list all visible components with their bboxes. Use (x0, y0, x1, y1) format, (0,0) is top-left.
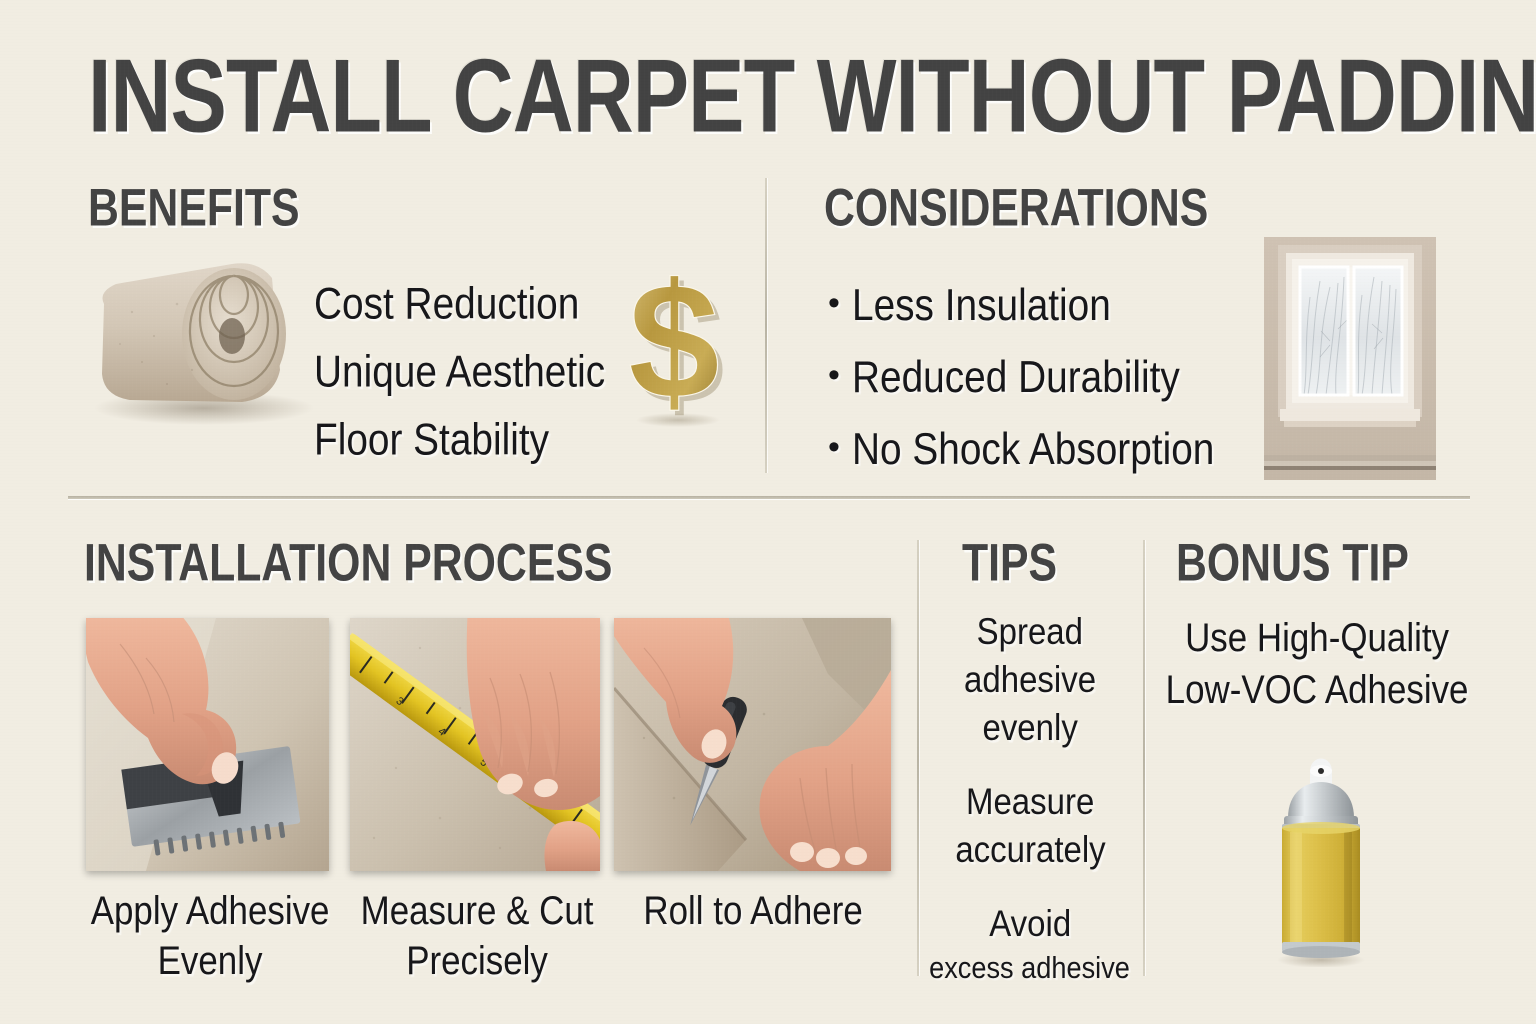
consideration-item-label: Less Insulation (852, 266, 1111, 344)
process-image-3 (614, 618, 891, 871)
benefit-item-label: Floor Stability (314, 402, 549, 478)
hand-with-trowel-svg (86, 618, 329, 871)
bonus-tip-line: Use High-Quality (1185, 609, 1449, 666)
carpet-roll-icon (82, 252, 322, 427)
benefit-item: Unique Aesthetic (314, 334, 624, 402)
benefits-list: Cost Reduction Unique Aesthetic Floor St… (314, 266, 624, 470)
page-title-text: INSTALL CARPET WITHOUT PADDING (88, 42, 1536, 151)
carpet-roll-svg (82, 252, 322, 427)
divider-vertical-bonus (1143, 540, 1145, 976)
tip-item: Spread adhesive evenly (925, 608, 1135, 752)
bonus-tip-text: Use High-Quality Low-VOC Adhesive (1152, 612, 1482, 716)
process-caption-line: Apply Adhesive (91, 884, 330, 939)
tip-line: accurately (955, 824, 1105, 877)
process-image-1 (86, 618, 329, 871)
process-caption-2: Measure & Cut Precisely (352, 886, 602, 986)
frosted-window-icon (1264, 237, 1436, 480)
consideration-item-label: Reduced Durability (852, 338, 1180, 416)
bonus-tip-line: Low-VOC Adhesive (1166, 661, 1469, 718)
considerations-list: •Less Insulation •Reduced Durability •No… (828, 266, 1258, 482)
divider-horizontal (68, 496, 1470, 499)
considerations-heading-text: CONSIDERATIONS (824, 176, 1208, 238)
bullet-icon: • (828, 412, 852, 482)
tip-line: excess adhesive (930, 946, 1131, 990)
tip-line: Avoid (989, 898, 1071, 951)
process-caption-line: Roll to Adhere (643, 884, 862, 939)
tips-list: Spread adhesive evenly Measure accuratel… (925, 608, 1135, 1014)
consideration-item: •Reduced Durability (828, 338, 1258, 410)
consideration-item-label: No Shock Absorption (852, 410, 1214, 488)
frosted-window-svg (1264, 237, 1436, 480)
bullet-icon: • (828, 268, 852, 338)
divider-vertical-tips (917, 540, 919, 976)
process-caption-line: Measure & Cut (361, 884, 594, 939)
spray-can-icon (1266, 732, 1376, 967)
tip-line: adhesive (964, 654, 1096, 707)
spray-can-svg (1266, 732, 1376, 967)
hands-cutting-carpet-svg (614, 618, 891, 871)
page-title: INSTALL CARPET WITHOUT PADDING (88, 42, 1488, 134)
bonus-tip-heading: BONUS TIP (1176, 531, 1426, 585)
tip-item: Measure accurately (925, 778, 1135, 874)
tip-line: Spread (977, 606, 1083, 659)
benefit-item-label: Unique Aesthetic (314, 334, 605, 410)
benefits-heading-text: BENEFITS (88, 176, 300, 238)
tip-line: Measure (966, 776, 1094, 829)
bonus-tip-heading-text: BONUS TIP (1176, 531, 1409, 593)
considerations-heading: CONSIDERATIONS (824, 176, 1237, 230)
tip-line: evenly (982, 702, 1077, 755)
benefit-item-label: Cost Reduction (314, 266, 579, 342)
divider-vertical-top (765, 178, 767, 473)
benefits-heading: BENEFITS (88, 176, 315, 230)
dollar-sign-svg: $ $ (612, 248, 742, 428)
bullet-icon: • (828, 340, 852, 410)
dollar-sign-icon: $ $ (612, 248, 742, 428)
installation-heading: INSTALLATION PROCESS (84, 531, 652, 585)
process-caption-1: Apply Adhesive Evenly (60, 886, 360, 986)
hand-with-tape-measure-svg: 34 56 (350, 618, 600, 871)
tip-item: Avoid excess adhesive (925, 900, 1135, 988)
benefit-item: Floor Stability (314, 402, 624, 470)
process-caption-3: Roll to Adhere (612, 886, 894, 936)
tips-heading-text: TIPS (962, 531, 1057, 593)
benefit-item: Cost Reduction (314, 266, 624, 334)
process-caption-line: Precisely (406, 934, 548, 989)
consideration-item: •No Shock Absorption (828, 410, 1258, 482)
installation-heading-text: INSTALLATION PROCESS (84, 531, 612, 593)
consideration-item: •Less Insulation (828, 266, 1258, 338)
process-caption-line: Evenly (158, 934, 263, 989)
tips-heading: TIPS (962, 531, 1064, 585)
process-image-2: 34 56 (350, 618, 600, 871)
svg-text:$: $ (628, 249, 720, 428)
